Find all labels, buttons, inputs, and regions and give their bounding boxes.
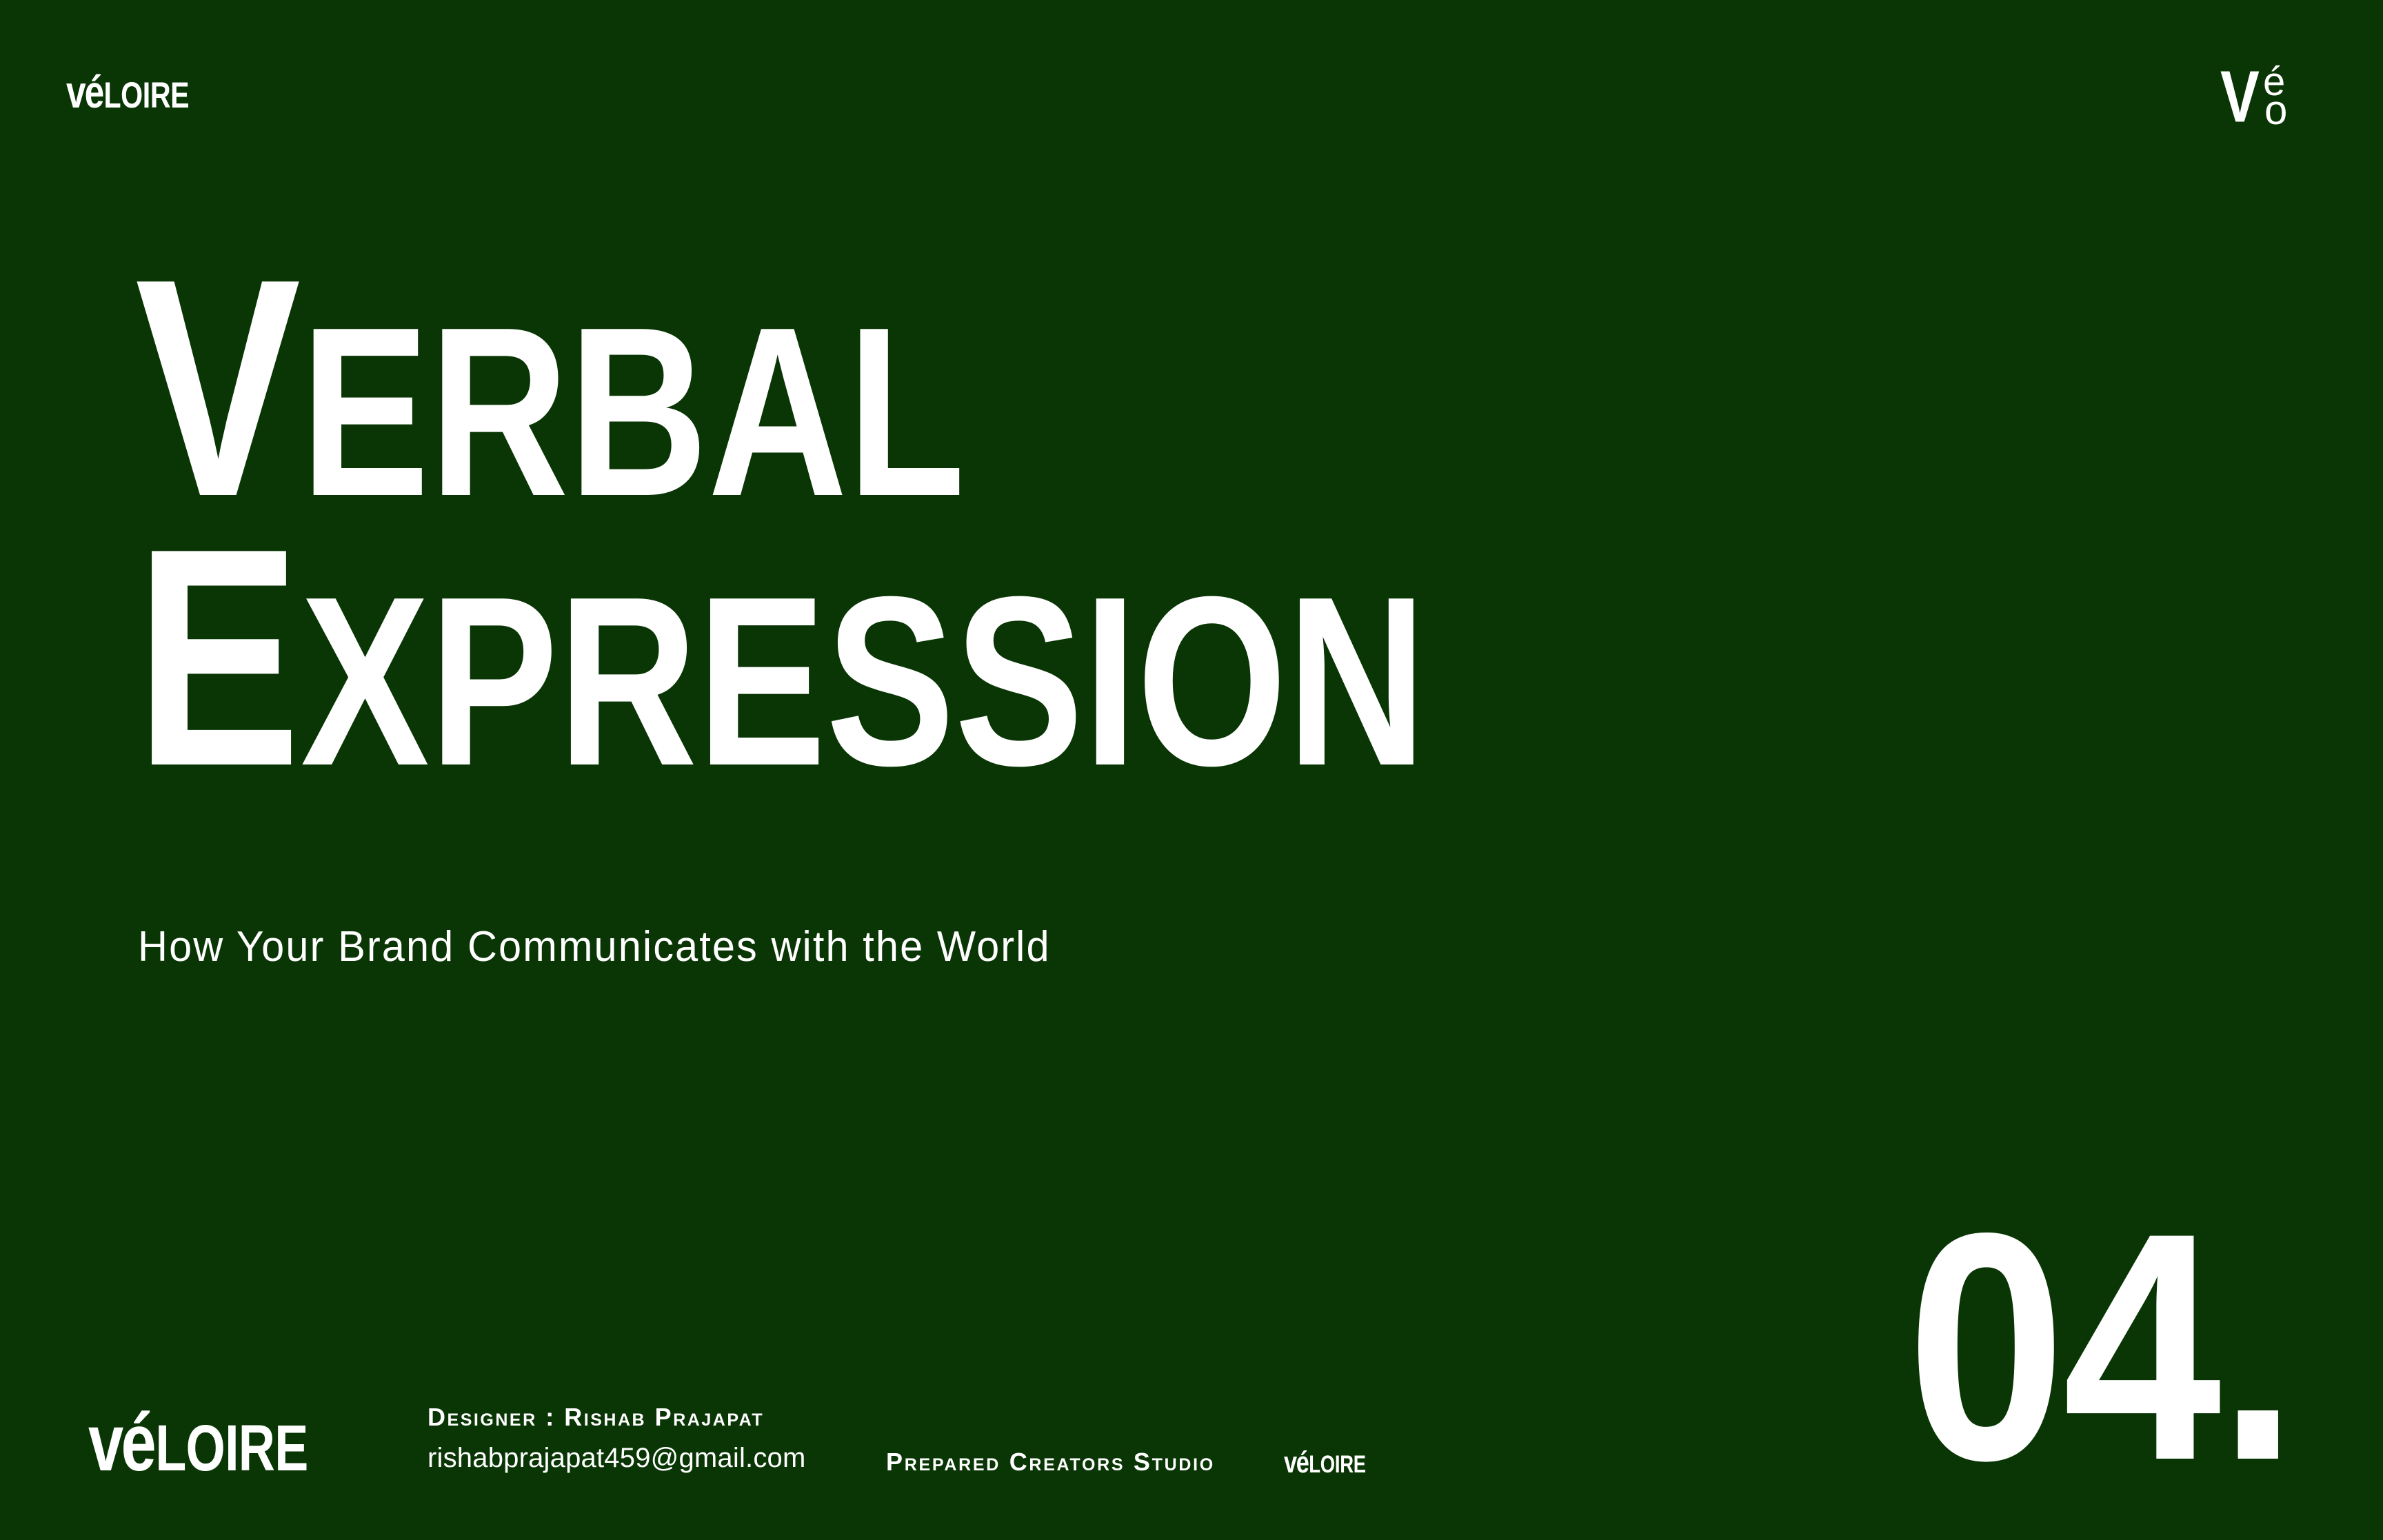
designer-credit: Designer : Rishab Prajapat xyxy=(428,1398,806,1437)
headline-line-2-initial: E xyxy=(135,485,301,831)
wordmark-letter-e-acute: é xyxy=(121,1397,156,1488)
slide-canvas: véLOIRE V é o VERBAL EXPRESSION How Your… xyxy=(0,0,2383,1540)
monogram-letter-o: o xyxy=(2264,90,2287,131)
wordmark-letter-e-acute: é xyxy=(85,66,104,117)
brand-logo-footer[interactable]: véLOIRE xyxy=(88,1402,370,1483)
footer: véLOIRE Designer : Rishab Prajapat risha… xyxy=(0,1361,2383,1540)
headline-line-1: VERBAL xyxy=(135,255,1404,522)
wordmark-letter-v: v xyxy=(1284,1446,1296,1479)
wordmark-letters-loire: LOIRE xyxy=(1309,1451,1365,1478)
veloire-wordmark: véLOIRE xyxy=(66,69,189,114)
headline-line-1-body: ERBAL xyxy=(301,277,965,547)
wordmark-letter-e-acute: é xyxy=(1296,1446,1309,1479)
veloire-wordmark-small: véLOIRE xyxy=(1284,1448,1366,1478)
page-title: VERBAL EXPRESSION xyxy=(135,255,1721,791)
wordmark-letter-v: v xyxy=(88,1397,121,1488)
wordmark-letters-loire: LOIRE xyxy=(103,75,189,116)
brand-monogram-top-right[interactable]: V é o xyxy=(2220,54,2324,136)
wordmark-letter-v: v xyxy=(66,66,85,117)
monogram-letter-v: V xyxy=(2220,61,2260,134)
prepared-by-credit: Prepared Creators Studio xyxy=(886,1448,1215,1477)
brand-logo-footer-small[interactable]: véLOIRE xyxy=(1284,1448,1389,1478)
wordmark-letters-loire: LOIRE xyxy=(155,1412,308,1485)
headline-line-2-body: XPRESSION xyxy=(301,547,1426,816)
headline-line-2: EXPRESSION xyxy=(135,525,1404,791)
credits-block: Designer : Rishab Prajapat rishabprajapa… xyxy=(428,1398,806,1479)
veloire-wordmark-footer: véLOIRE xyxy=(88,1402,308,1483)
page-subtitle: How Your Brand Communicates with the Wor… xyxy=(138,924,1051,971)
designer-email[interactable]: rishabprajapat459@gmail.com xyxy=(428,1437,806,1479)
brand-logo-top-left[interactable]: véLOIRE xyxy=(66,69,224,114)
